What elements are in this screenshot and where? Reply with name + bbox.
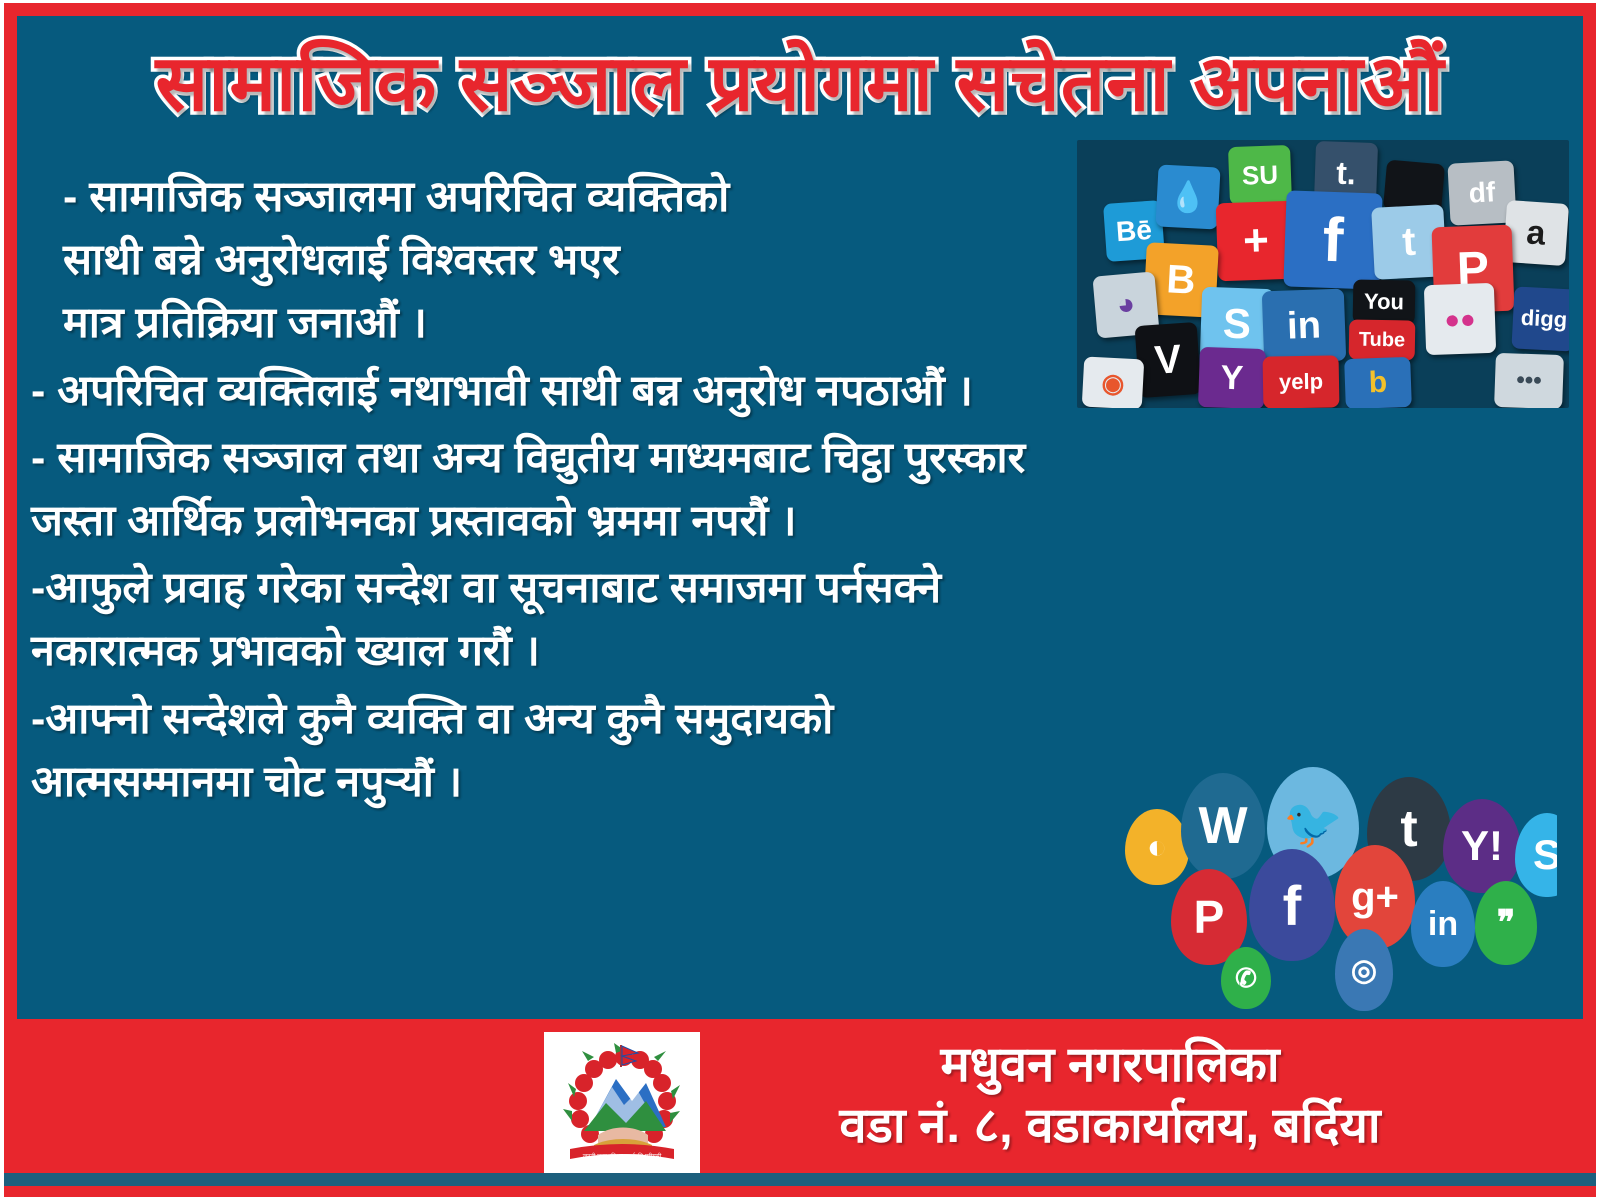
page-title: सामाजिक सञ्जाल प्रयोगमा सचेतना अपनाऔं: [17, 44, 1583, 122]
list-item: - सामाजिक सञ्जाल तथा अन्य विद्युतीय माध्…: [17, 427, 1375, 553]
instagram-icon: ◎: [1335, 929, 1393, 1011]
footer-blue-stripe: [4, 1173, 1596, 1186]
list-item: - सामाजिक सञ्जालमा अपरिचित व्यक्तिको साथ…: [17, 166, 1087, 356]
list-item: - अपरिचित व्यक्तिलाई नथाभावी साथी बन्न अ…: [17, 360, 1583, 423]
skype-icon: S: [1515, 813, 1557, 897]
footer-office-text: मधुवन नगरपालिका वडा नं. ८, वडाकार्यालय, …: [720, 1035, 1500, 1158]
awareness-points-list: - सामाजिक सञ्जालमा अपरिचित व्यक्तिको साथ…: [17, 166, 1583, 818]
municipality-name: मधुवन नगरपालिका: [720, 1035, 1500, 1096]
picasa-icon: ◐: [1125, 809, 1189, 885]
yahoo-icon: Y!: [1443, 799, 1521, 893]
poster-footer: जननी जन्मभूमिश्च स्वर्गादपि गरीयसी मधुवन…: [4, 1019, 1596, 1197]
emblem-motto: जननी जन्मभूमिश्च स्वर्गादपि गरीयसी: [583, 1152, 662, 1160]
emblem-svg: जननी जन्मभूमिश्च स्वर्गादपि गरीयसी: [554, 1039, 690, 1173]
nepal-government-emblem: जननी जन्मभूमिश्च स्वर्गादपि गरीयसी: [544, 1032, 700, 1180]
social-media-balloon-icons: ◐W🐦tY!SPfg+in❞✆◎: [1117, 761, 1557, 1011]
list-item: -आफुले प्रवाह गरेका सन्देश वा सूचनाबाट स…: [17, 557, 1275, 683]
facebook-icon: f: [1249, 849, 1335, 961]
whatsapp-icon: ✆: [1221, 947, 1271, 1009]
wordpress-icon: W: [1181, 773, 1265, 879]
linkedin-icon: in: [1411, 881, 1475, 967]
poster-root: सामाजिक सञ्जाल प्रयोगमा सचेतना अपनाऔं Bē…: [0, 0, 1600, 1200]
list-item: -आफ्नो सन्देशले कुनै व्यक्ति वा अन्य कुन…: [17, 688, 1175, 814]
ward-office-line: वडा नं. ८, वडाकार्यालय, बर्दिया: [720, 1096, 1500, 1157]
poster-body: सामाजिक सञ्जाल प्रयोगमा सचेतना अपनाऔं Bē…: [17, 16, 1583, 1019]
hangouts-icon: ❞: [1475, 881, 1537, 965]
